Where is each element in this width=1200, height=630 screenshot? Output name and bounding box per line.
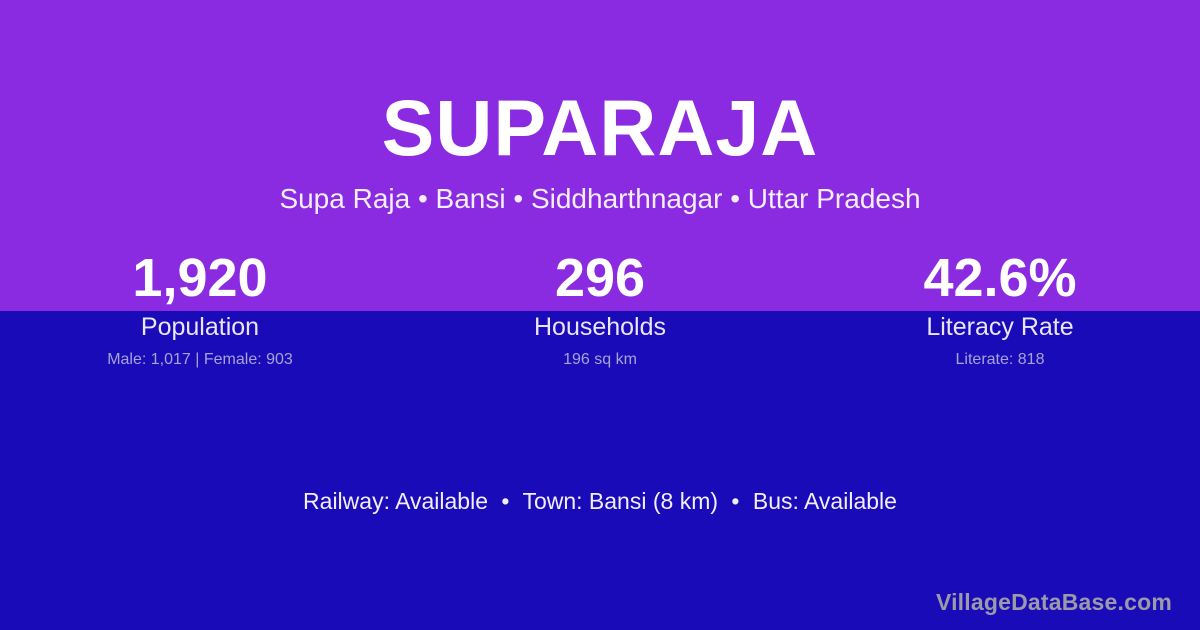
stat-sublabel: 196 sq km [400,350,800,370]
stats-row: 1,920 Population Male: 1,017 | Female: 9… [0,248,1200,370]
location-breadcrumb: Supa Raja • Bansi • Siddharthnagar • Utt… [0,182,1200,216]
facility-railway: Railway: Available [303,488,488,514]
facilities-row: Railway: Available • Town: Bansi (8 km) … [0,487,1200,515]
village-summary-card: SUPARAJA Supa Raja • Bansi • Siddharthna… [0,0,1200,630]
stat-households: 296 Households 196 sq km [400,248,800,370]
card-content: SUPARAJA Supa Raja • Bansi • Siddharthna… [0,0,1200,630]
stat-literacy-rate: 42.6% Literacy Rate Literate: 818 [800,248,1200,370]
bullet-separator-icon: • [494,488,516,514]
page-title: SUPARAJA [0,88,1200,167]
site-brand-watermark: VillageDataBase.com [936,588,1172,616]
stat-label: Households [400,312,800,342]
stat-label: Literacy Rate [800,312,1200,342]
stat-population: 1,920 Population Male: 1,017 | Female: 9… [0,248,400,370]
stat-value: 1,920 [0,248,400,308]
facility-bus: Bus: Available [753,488,897,514]
stat-sublabel: Male: 1,017 | Female: 903 [0,350,400,370]
bullet-separator-icon: • [724,488,746,514]
facility-nearest-town: Town: Bansi (8 km) [522,488,718,514]
stat-value: 42.6% [800,248,1200,308]
stat-value: 296 [400,248,800,308]
stat-label: Population [0,312,400,342]
stat-sublabel: Literate: 818 [800,350,1200,370]
